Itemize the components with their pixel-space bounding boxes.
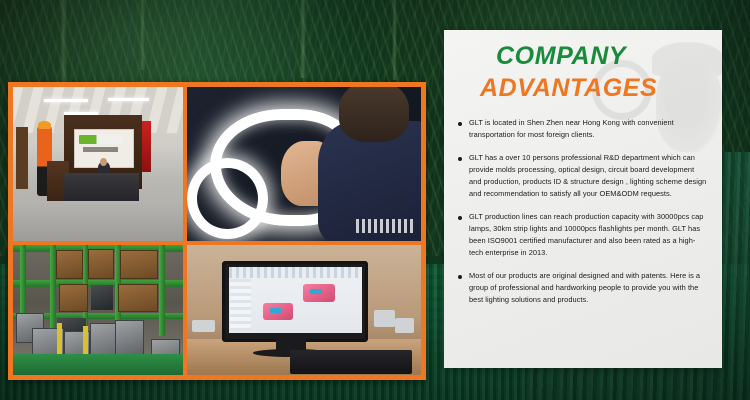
glowing-led-strip-tail: [187, 158, 268, 240]
china-flag: [142, 121, 151, 172]
desktop-monitor: [222, 261, 368, 342]
cad-design-photo: [187, 245, 421, 375]
reception-lobby-photo: [13, 87, 183, 241]
list-item: GLT is located in Shen Zhen near Hong Ko…: [458, 117, 708, 141]
wooden-crate: [56, 250, 84, 279]
wooden-crate: [59, 284, 88, 312]
molds-warehouse-photo: [13, 245, 183, 375]
ceiling-light: [44, 99, 88, 102]
safety-helmet: [38, 121, 52, 129]
lobby-floor: [13, 201, 183, 241]
wooden-crate: [118, 284, 157, 312]
list-item-text: GLT is located in Shen Zhen near Hong Ko…: [469, 117, 708, 141]
list-item-text: GLT has a over 10 persons professional R…: [469, 152, 708, 200]
cad-part-screen: [270, 308, 281, 313]
list-item: GLT has a over 10 persons professional R…: [458, 152, 708, 200]
company-name-text: [83, 147, 119, 152]
cad-feature-tree: [230, 279, 251, 331]
door: [16, 127, 28, 189]
green-pallet-floor: [13, 354, 183, 375]
list-item: Most of our products are original design…: [458, 270, 708, 306]
heading-line-advantages: ADVANTAGES: [480, 76, 722, 101]
list-item: GLT production lines can reach productio…: [458, 211, 708, 259]
reception-desk: [64, 173, 139, 201]
receptionist-head: [100, 158, 107, 166]
wooden-crate: [88, 249, 114, 280]
advantages-bullet-list: GLT is located in Shen Zhen near Hong Ko…: [458, 117, 708, 306]
monitor-screen: [229, 267, 362, 333]
rack-post: [159, 245, 165, 336]
desk-clutter: [374, 310, 395, 327]
technician-head: [339, 87, 409, 142]
steel-mold: [115, 320, 144, 356]
photo-collage: [8, 82, 426, 380]
heading-line-company: COMPANY: [496, 44, 722, 69]
company-logo: [79, 135, 123, 144]
bullet-dot-icon: [458, 216, 462, 220]
desk-clutter: [192, 320, 215, 332]
list-item-text: GLT production lines can reach productio…: [469, 211, 708, 259]
slide-canvas: COMPANY ADVANTAGES GLT is located in She…: [0, 0, 750, 400]
advantages-panel: COMPANY ADVANTAGES GLT is located in She…: [444, 30, 722, 368]
wooden-crate: [120, 250, 158, 279]
keyboard: [290, 350, 412, 373]
bullet-dot-icon: [458, 122, 462, 126]
bullet-dot-icon: [458, 157, 462, 161]
tshirt-logo-print: [356, 219, 417, 233]
steel-mold: [91, 285, 113, 310]
cad-part-screen: [310, 289, 322, 295]
cad-toolbar-ribbon: [229, 267, 362, 278]
strip-light-test-photo: [187, 87, 421, 241]
bullet-dot-icon: [458, 275, 462, 279]
list-item-text: Most of our products are original design…: [469, 270, 708, 306]
page-title: COMPANY ADVANTAGES: [444, 30, 722, 101]
desk-clutter: [395, 318, 414, 334]
ceiling-light: [108, 98, 149, 101]
